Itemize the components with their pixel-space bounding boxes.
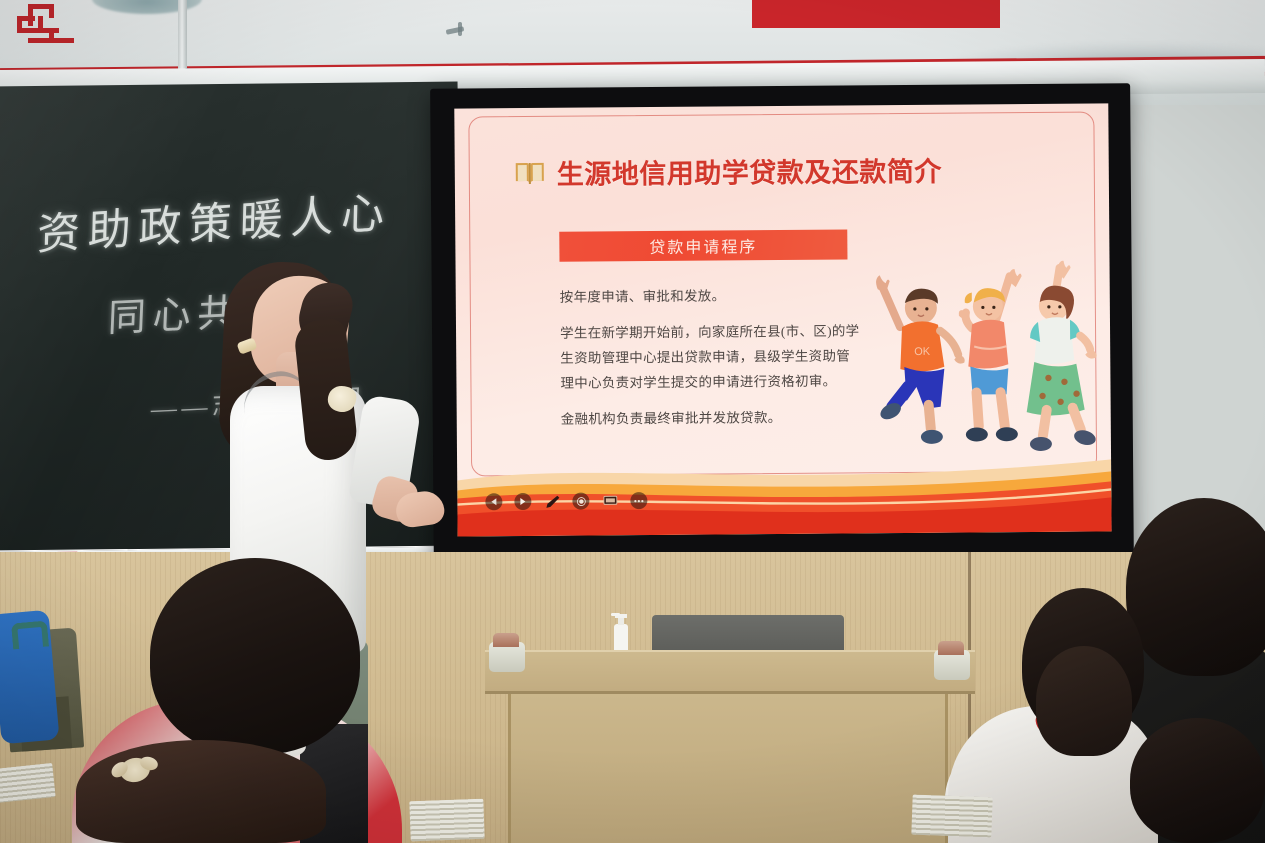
chinese-knot-icon [12,4,72,46]
laptop [652,615,844,655]
ceiling-pipe [178,0,187,70]
student-right-middle-head [1036,646,1132,756]
backpack-strap [11,620,49,649]
slide-paragraph-1: 按年度申请、审批和发放。 [560,283,860,310]
podium-body [508,694,948,843]
podium-top [485,650,975,694]
wall-hook-stem [458,22,462,36]
red-wall-panel [752,0,1000,28]
stacked-papers-left [409,799,484,842]
presentation-slide[interactable]: 生源地信用助学贷款及还款简介 贷款申请程序 按年度申请、审批和发放。 学生在新学… [454,103,1111,536]
illustration-figure-girl-right [1026,260,1098,451]
podium-clamp-left [489,642,525,672]
classroom-scene: 资助政策暖人心 同心共筑梦 ——志愿服务团 生源地信用助学贷款及还款简介 贷款申… [0,0,1265,843]
section-banner-label: 贷款申请程序 [649,233,757,258]
smart-screen[interactable]: 生源地信用助学贷款及还款简介 贷款申请程序 按年度申请、审批和发放。 学生在新学… [430,83,1134,566]
slide-title-row: 生源地信用助学贷款及还款简介 [515,150,942,192]
student-right-dark-head [1126,498,1265,676]
section-banner: 贷款申请程序 [559,229,847,261]
previous-slide-icon[interactable] [485,493,502,510]
student-front-left-head [150,558,360,754]
student-right-back-head [1130,718,1265,843]
slide-paragraph-3: 金融机构负责最终审批并发放贷款。 [561,405,861,432]
slide-paragraph-2: 学生在新学期开始前，向家庭所在县(市、区)的学生资助管理中心提出贷款申请，县级学… [560,319,861,396]
play-slide-icon[interactable] [514,493,531,510]
slide-body: 按年度申请、审批和发放。 学生在新学期开始前，向家庭所在县(市、区)的学生资助管… [560,283,861,443]
podium-clamp-right [934,650,970,680]
stacked-papers-corner [0,763,56,803]
slide-title: 生源地信用助学贷款及还款简介 [557,150,942,192]
slide-wave-decor [457,445,1112,536]
illustration-figure-girl-center [958,269,1022,442]
screen-view-icon[interactable] [601,492,618,509]
stacked-papers-right [911,795,992,838]
more-options-icon[interactable] [630,492,647,509]
laser-pointer-icon[interactable] [572,493,589,510]
presentation-toolbar[interactable] [485,492,647,510]
student-front-left-ponytail-head [76,740,326,843]
hand-sanitizer-bottle [608,612,634,654]
svg-text:OK: OK [914,346,931,358]
three-jumping-children-illustration: OK [863,253,1105,470]
open-book-icon [515,159,545,185]
illustration-figure-boy: OK [876,275,965,445]
pen-annotate-icon[interactable] [543,493,560,510]
